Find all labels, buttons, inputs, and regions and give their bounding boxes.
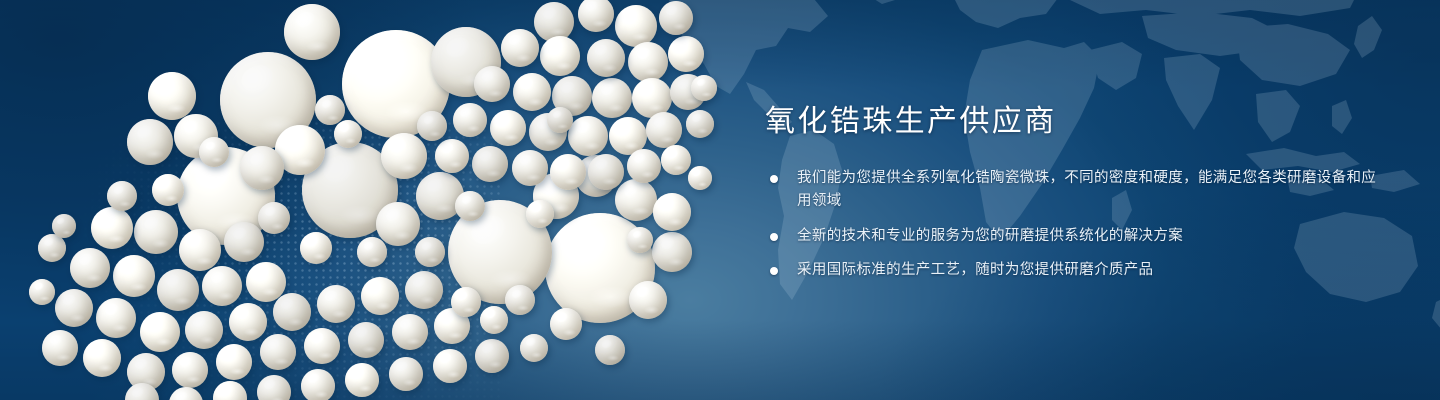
- banner-bullet-text: 采用国际标准的生产工艺，随时为您提供研磨介质产品: [797, 262, 1153, 278]
- banner-bullet-text: 我们能为您提供全系列氧化锆陶瓷微珠，不同的密度和硬度，能满足您各类研磨设备和应用…: [797, 170, 1376, 209]
- banner-bullet-text: 全新的技术和专业的服务为您的研磨提供系统化的解决方案: [797, 228, 1183, 244]
- bullet-dot-icon: [770, 233, 778, 241]
- banner-text-column: 氧化锆珠生产供应商 我们能为您提供全系列氧化锆陶瓷微珠，不同的密度和硬度，能满足…: [765, 104, 1385, 283]
- banner-bullet-list: 我们能为您提供全系列氧化锆陶瓷微珠，不同的密度和硬度，能满足您各类研磨设备和应用…: [765, 167, 1385, 283]
- bullet-dot-icon: [770, 267, 778, 275]
- bullet-dot-icon: [770, 175, 778, 183]
- banner-bullet-item: 我们能为您提供全系列氧化锆陶瓷微珠，不同的密度和硬度，能满足您各类研磨设备和应用…: [765, 167, 1385, 214]
- banner-headline: 氧化锆珠生产供应商: [765, 104, 1385, 141]
- banner-bullet-item: 全新的技术和专业的服务为您的研磨提供系统化的解决方案: [765, 225, 1385, 248]
- banner-bullet-item: 采用国际标准的生产工艺，随时为您提供研磨介质产品: [765, 259, 1385, 282]
- hero-banner: 氧化锆珠生产供应商 我们能为您提供全系列氧化锆陶瓷微珠，不同的密度和硬度，能满足…: [0, 0, 1440, 400]
